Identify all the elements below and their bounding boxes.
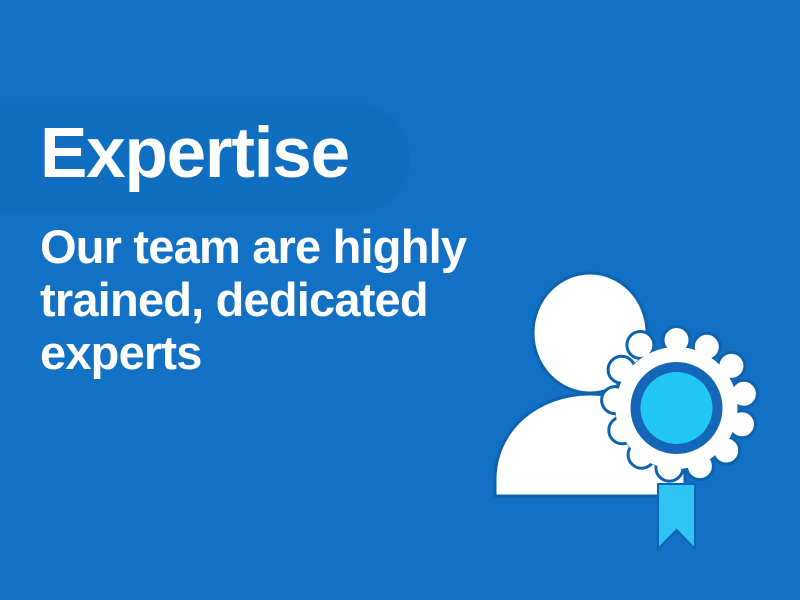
- badge-ribbon-icon: [658, 484, 695, 549]
- page-title: Expertise: [40, 110, 510, 198]
- badge-center-icon: [641, 372, 713, 444]
- subtitle-text: Our team are highly trained, dedicated e…: [40, 198, 510, 379]
- text-block: Expertise Our team are highly trained, d…: [40, 110, 510, 379]
- expertise-slide: Expertise Our team are highly trained, d…: [0, 0, 800, 600]
- person-with-award-badge-icon: [485, 268, 780, 558]
